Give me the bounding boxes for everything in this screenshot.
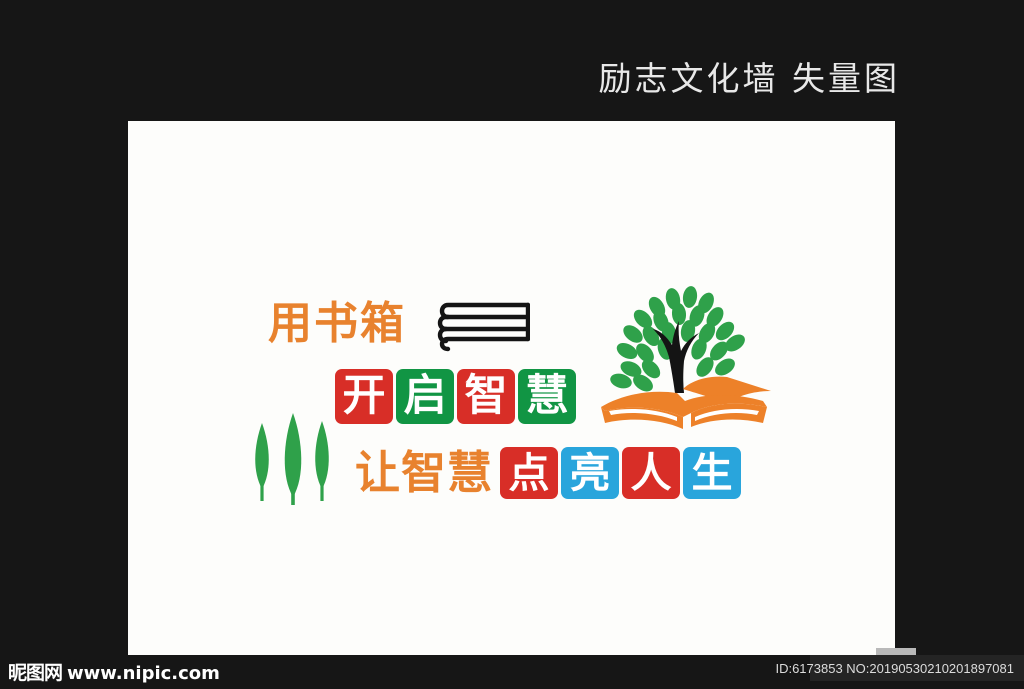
- headline-line-3: 让智慧 点 亮 人 生: [355, 447, 741, 499]
- nipic-logo: 昵图网: [8, 658, 62, 685]
- page-title: 励志文化墙 失量图: [0, 52, 900, 100]
- screenshot-root: 励志文化墙 失量图 用书箱: [0, 0, 1024, 689]
- brand-watermark: 昵图网 www.nipic.com: [8, 658, 220, 685]
- asset-id-text: ID:6173853 NO:20190530210201897081: [775, 661, 1014, 676]
- tile-qi: 启: [396, 369, 454, 424]
- tile-hui: 慧: [518, 369, 576, 424]
- tile-zhi: 智: [457, 369, 515, 424]
- tree-on-open-book-icon: [595, 281, 775, 431]
- footer-watermark-bar: 昵图网 www.nipic.com ID:6173853 NO:20190530…: [0, 655, 1024, 689]
- tile-liang: 亮: [561, 447, 619, 499]
- headline-line-2: 开 启 智 慧: [335, 369, 576, 424]
- headline-text-yongshuxiang: 用书箱: [268, 302, 406, 346]
- brand-url-text: www.nipic.com: [67, 663, 220, 684]
- cypress-trees-icon: [248, 393, 340, 505]
- headline-line-1: 用书箱: [268, 295, 530, 353]
- tile-sheng: 生: [683, 447, 741, 499]
- tile-kai: 开: [335, 369, 393, 424]
- artboard-canvas: 用书箱 开 启 智: [128, 121, 895, 655]
- headline-text-rangzhihui: 让智慧: [355, 447, 493, 499]
- wall-art-composition: 用书箱 开 启 智: [240, 281, 800, 521]
- tile-dian: 点: [500, 447, 558, 499]
- tile-ren: 人: [622, 447, 680, 499]
- stacked-books-icon: [434, 295, 530, 353]
- decorative-nub: [876, 648, 916, 655]
